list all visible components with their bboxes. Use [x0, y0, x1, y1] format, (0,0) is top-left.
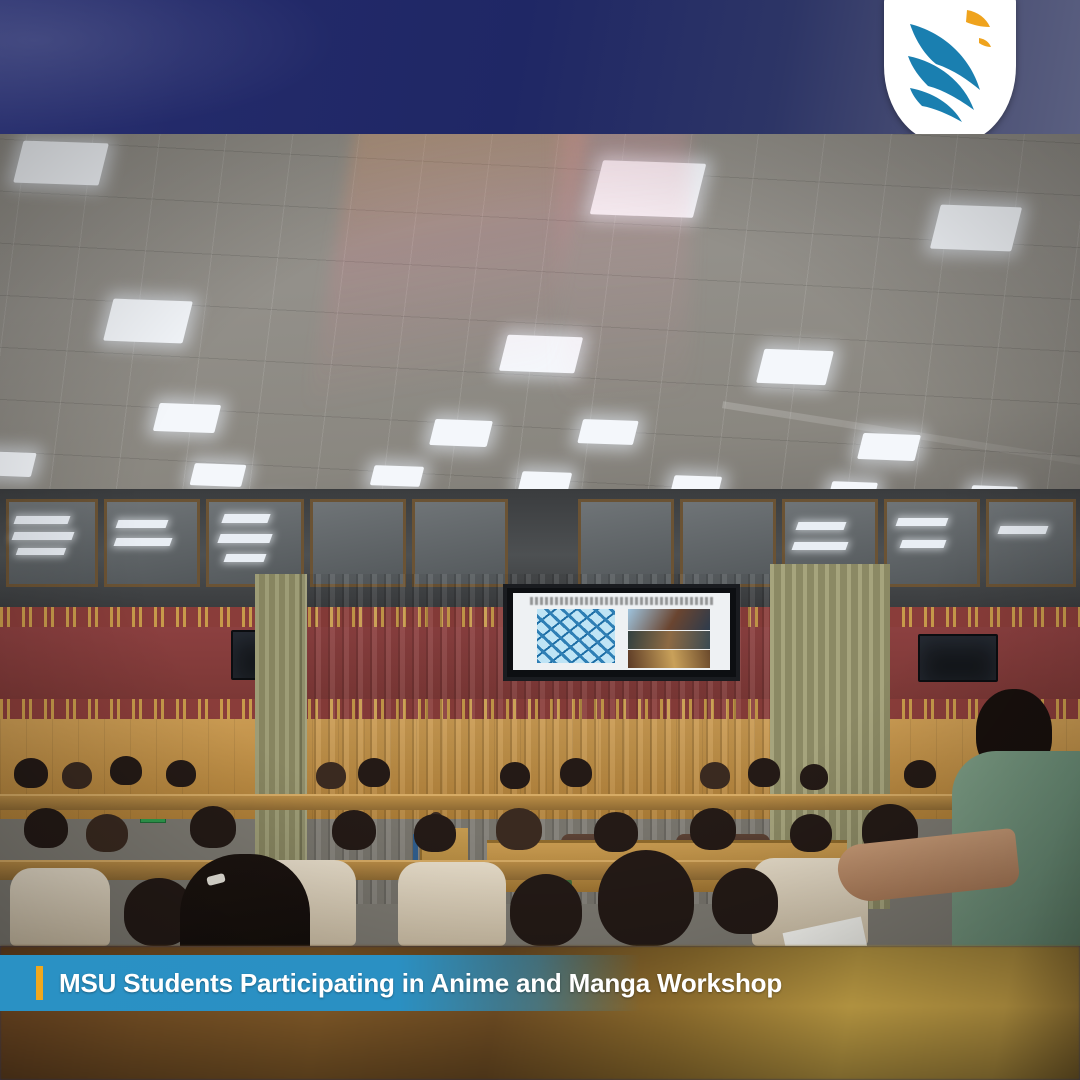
slide-manga-page	[537, 609, 615, 663]
lens-flare-secondary	[560, 134, 690, 534]
audience-head	[500, 762, 530, 789]
audience-head	[800, 764, 828, 790]
window-pane	[986, 499, 1076, 587]
auditorium-seat	[398, 862, 506, 946]
audience-head	[414, 814, 456, 852]
audience-head	[62, 762, 92, 789]
shield-logo-svg	[884, 0, 1016, 144]
audience-head	[166, 760, 196, 787]
window-pane	[6, 499, 98, 587]
wall-tv-right	[918, 634, 998, 682]
audience-head	[358, 758, 390, 787]
slide-image-2	[628, 631, 710, 649]
projection-screen	[503, 584, 740, 681]
caption-accent-bar	[36, 966, 43, 1000]
audience-head	[598, 850, 694, 946]
audience-head	[110, 756, 142, 785]
ceiling-lamp	[103, 299, 193, 344]
ceiling-lamp	[13, 140, 109, 185]
slide-title-text	[530, 597, 712, 605]
audience-head	[904, 760, 936, 788]
ceiling-lamp	[756, 349, 834, 385]
poster-root: MSU Students Participating in Anime and …	[0, 0, 1080, 1080]
audience-head	[748, 758, 780, 787]
audience-head	[510, 874, 582, 946]
ceiling-lamp	[930, 205, 1022, 252]
header-sheen	[0, 0, 340, 134]
projection-slide	[513, 593, 730, 670]
audience-head	[560, 758, 592, 787]
audience-head	[690, 808, 736, 850]
ceiling-lamp	[189, 463, 246, 487]
window-pane	[884, 499, 980, 587]
foreground-person-green-shirt	[958, 689, 1080, 946]
bench-row	[0, 794, 1080, 810]
ceiling-lamp	[0, 451, 37, 477]
auditorium-seat	[10, 868, 110, 946]
audience-head	[316, 762, 346, 789]
ceiling-lamp	[153, 403, 221, 433]
audience-head	[790, 814, 832, 852]
audience-head	[86, 814, 128, 852]
logo-container[interactable]	[884, 0, 1016, 144]
shield-icon	[884, 0, 1016, 144]
audience-head	[594, 812, 638, 852]
event-photo	[0, 134, 1080, 946]
audience-head	[700, 762, 730, 789]
ceiling-lamp	[857, 433, 921, 461]
slide-image-1	[628, 609, 710, 630]
audience-head	[332, 810, 376, 850]
slide-image-3	[628, 650, 710, 669]
audience-head	[190, 806, 236, 848]
audience-head	[496, 808, 542, 850]
header-band	[0, 0, 1080, 134]
audience-head	[14, 758, 48, 788]
ceiling-lamp	[370, 465, 425, 487]
window-pane	[104, 499, 200, 587]
caption-bar: MSU Students Participating in Anime and …	[0, 955, 640, 1011]
caption-title: MSU Students Participating in Anime and …	[59, 968, 782, 999]
audience-head	[24, 808, 68, 848]
audience-head	[712, 868, 778, 934]
